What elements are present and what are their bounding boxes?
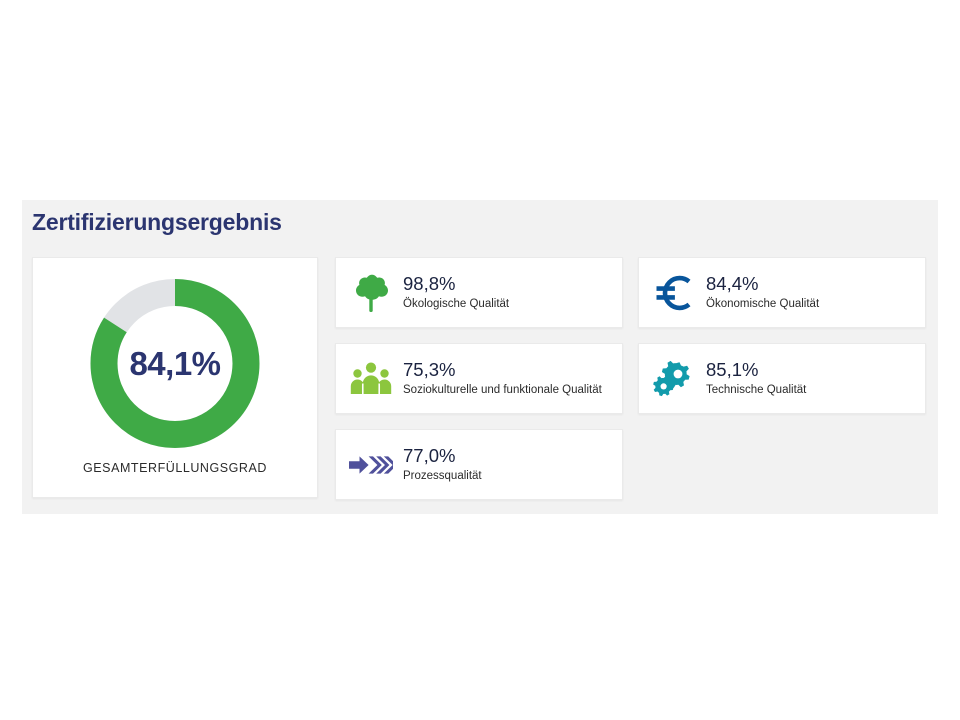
page-title: Zertifizierungsergebnis — [32, 209, 282, 236]
tree-icon — [348, 270, 394, 316]
overall-fulfilment-value: 84,1% — [88, 276, 263, 451]
metric-card-technische-qualitaet[interactable]: 85,1% Technische Qualität — [638, 343, 926, 414]
metric-text-block: 98,8% Ökologische Qualität — [403, 273, 509, 312]
metric-label: Soziokulturelle und funktionale Qualität — [403, 383, 602, 398]
gears-icon — [651, 356, 697, 402]
metric-card-oekologische-qualitaet[interactable]: 98,8% Ökologische Qualität — [335, 257, 623, 328]
metric-value: 84,4% — [706, 273, 819, 294]
metric-label: Ökologische Qualität — [403, 297, 509, 312]
metric-value: 98,8% — [403, 273, 509, 294]
metric-text-block: 77,0% Prozessqualität — [403, 445, 482, 484]
metric-text-block: 84,4% Ökonomische Qualität — [706, 273, 819, 312]
overall-fulfilment-card: 84,1% GESAMTERFÜLLUNGSGRAD — [32, 257, 318, 498]
metric-value: 77,0% — [403, 445, 482, 466]
euro-icon — [651, 270, 697, 316]
metric-value: 75,3% — [403, 359, 602, 380]
metric-card-soziokulturelle-qualitaet[interactable]: 75,3% Soziokulturelle und funktionale Qu… — [335, 343, 623, 414]
metric-label: Ökonomische Qualität — [706, 297, 819, 312]
overall-donut-chart: 84,1% — [88, 276, 263, 451]
certification-result-screen: Zertifizierungsergebnis 84,1% GESAMTERFÜ… — [0, 0, 960, 720]
metric-label: Technische Qualität — [706, 383, 806, 398]
metric-card-oekonomische-qualitaet[interactable]: 84,4% Ökonomische Qualität — [638, 257, 926, 328]
metric-label: Prozessqualität — [403, 469, 482, 484]
overall-fulfilment-label: GESAMTERFÜLLUNGSGRAD — [33, 461, 317, 475]
metric-text-block: 75,3% Soziokulturelle und funktionale Qu… — [403, 359, 602, 398]
metric-card-prozessqualitaet[interactable]: 77,0% Prozessqualität — [335, 429, 623, 500]
metric-text-block: 85,1% Technische Qualität — [706, 359, 806, 398]
arrows-icon — [348, 442, 394, 488]
people-icon — [348, 356, 394, 402]
metric-value: 85,1% — [706, 359, 806, 380]
